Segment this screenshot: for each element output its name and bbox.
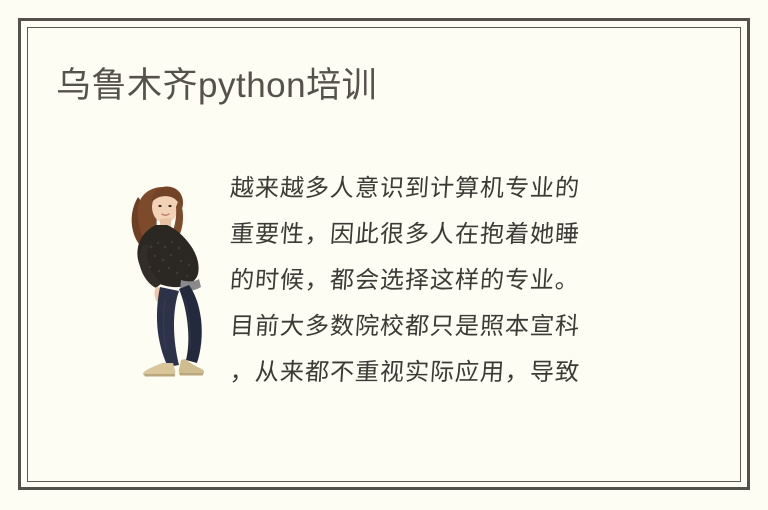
body-line: 目前大多数院校都只是照本宣科 bbox=[228, 303, 651, 349]
body-line: ，从来都不重视实际应用，导致 bbox=[228, 349, 651, 395]
page-title: 乌鲁木齐python培训 bbox=[56, 62, 377, 110]
body-line: 重要性，因此很多人在抱着她睡 bbox=[228, 211, 651, 257]
article-card: 乌鲁木齐python培训 bbox=[0, 0, 768, 510]
woman-photo bbox=[105, 175, 225, 380]
body-line: 越来越多人意识到计算机专业的 bbox=[228, 165, 651, 211]
body-line: 的时候，都会选择这样的专业。 bbox=[228, 257, 651, 303]
article-content: 越来越多人意识到计算机专业的 重要性，因此很多人在抱着她睡 的时候，都会选择这样… bbox=[27, 130, 741, 430]
article-body: 越来越多人意识到计算机专业的 重要性，因此很多人在抱着她睡 的时候，都会选择这样… bbox=[230, 165, 650, 395]
